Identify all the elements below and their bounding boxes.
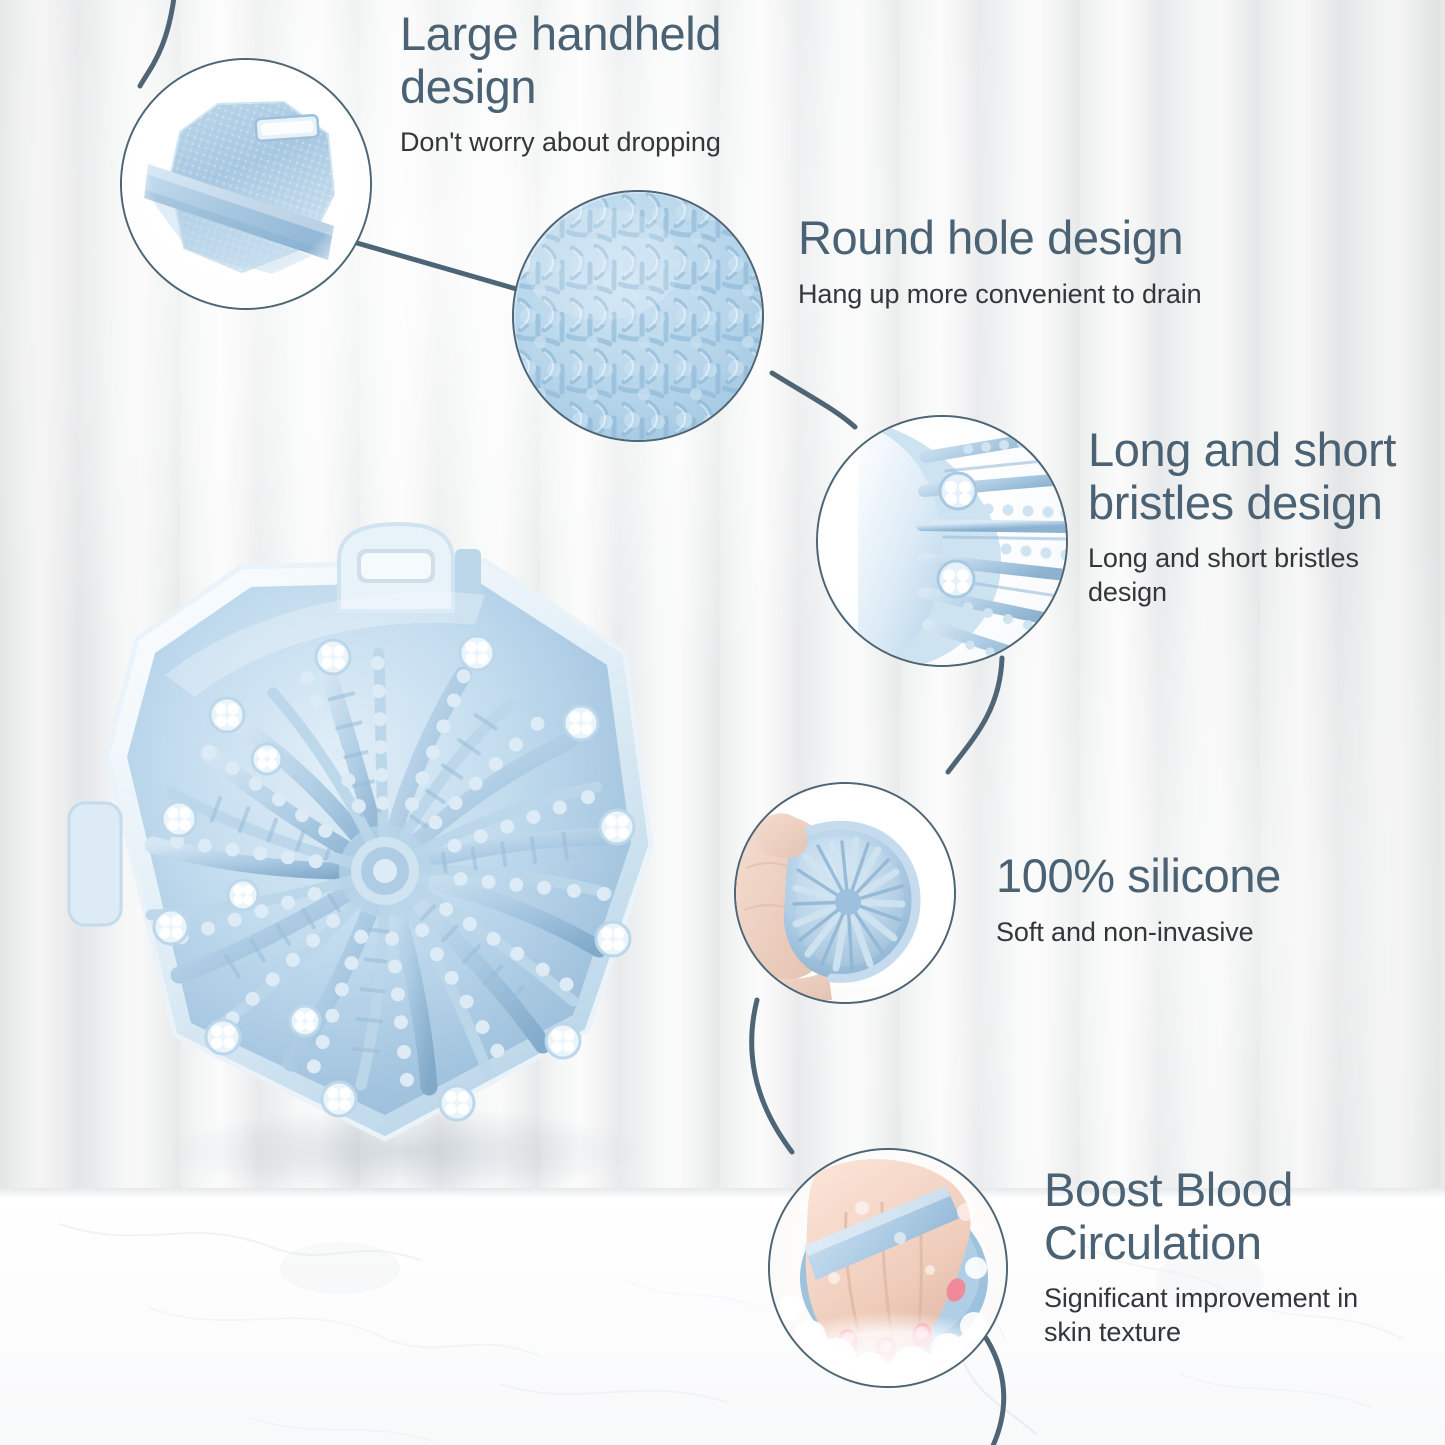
feature-subtitle: Don't worry about dropping [400,126,810,159]
center-whorl [339,825,431,917]
infographic-canvas: Large handheld design Don't worry about … [0,0,1445,1445]
hand-squeezing-silicone-illustration [736,784,954,1002]
feature-text-100-percent-silicone: 100% silicone Soft and non-invasive [996,850,1356,949]
feature-text-round-hole-design: Round hole design Hang up more convenien… [798,212,1268,311]
side-tab [69,803,121,925]
main-product-image [55,515,715,1195]
soapy-hand-using-brush-illustration [770,1150,1006,1386]
handheld-strap-illustration [122,60,370,308]
callout-round-hole-design [512,190,764,442]
callout-boost-blood-circulation [768,1148,1008,1388]
feature-subtitle: Hang up more convenient to drain [798,278,1268,311]
silicone-body-scrubber-illustration [55,515,715,1195]
feature-subtitle: Long and short bristles design [1088,542,1418,609]
feature-title: Large handheld design [400,8,810,113]
feature-text-large-handheld-design: Large handheld design Don't worry about … [400,8,810,160]
callout-long-and-short-bristles-design [816,415,1068,667]
feature-text-long-and-short-bristles-design: Long and short bristles design Long and … [1088,424,1418,609]
feature-subtitle: Soft and non-invasive [996,916,1356,949]
feature-text-boost-blood-circulation: Boost Blood Circulation Significant impr… [1044,1164,1394,1349]
feature-subtitle: Significant improvement in skin texture [1044,1282,1394,1349]
feature-title: Round hole design [798,212,1268,265]
feature-title: Long and short bristles design [1088,424,1418,529]
bristles-closeup-illustration [818,417,1066,665]
callout-100-percent-silicone [734,782,956,1004]
round-hole-texture-illustration [514,192,762,440]
callout-large-handheld-design [120,58,372,310]
feature-title: 100% silicone [996,850,1356,903]
feature-title: Boost Blood Circulation [1044,1164,1394,1269]
